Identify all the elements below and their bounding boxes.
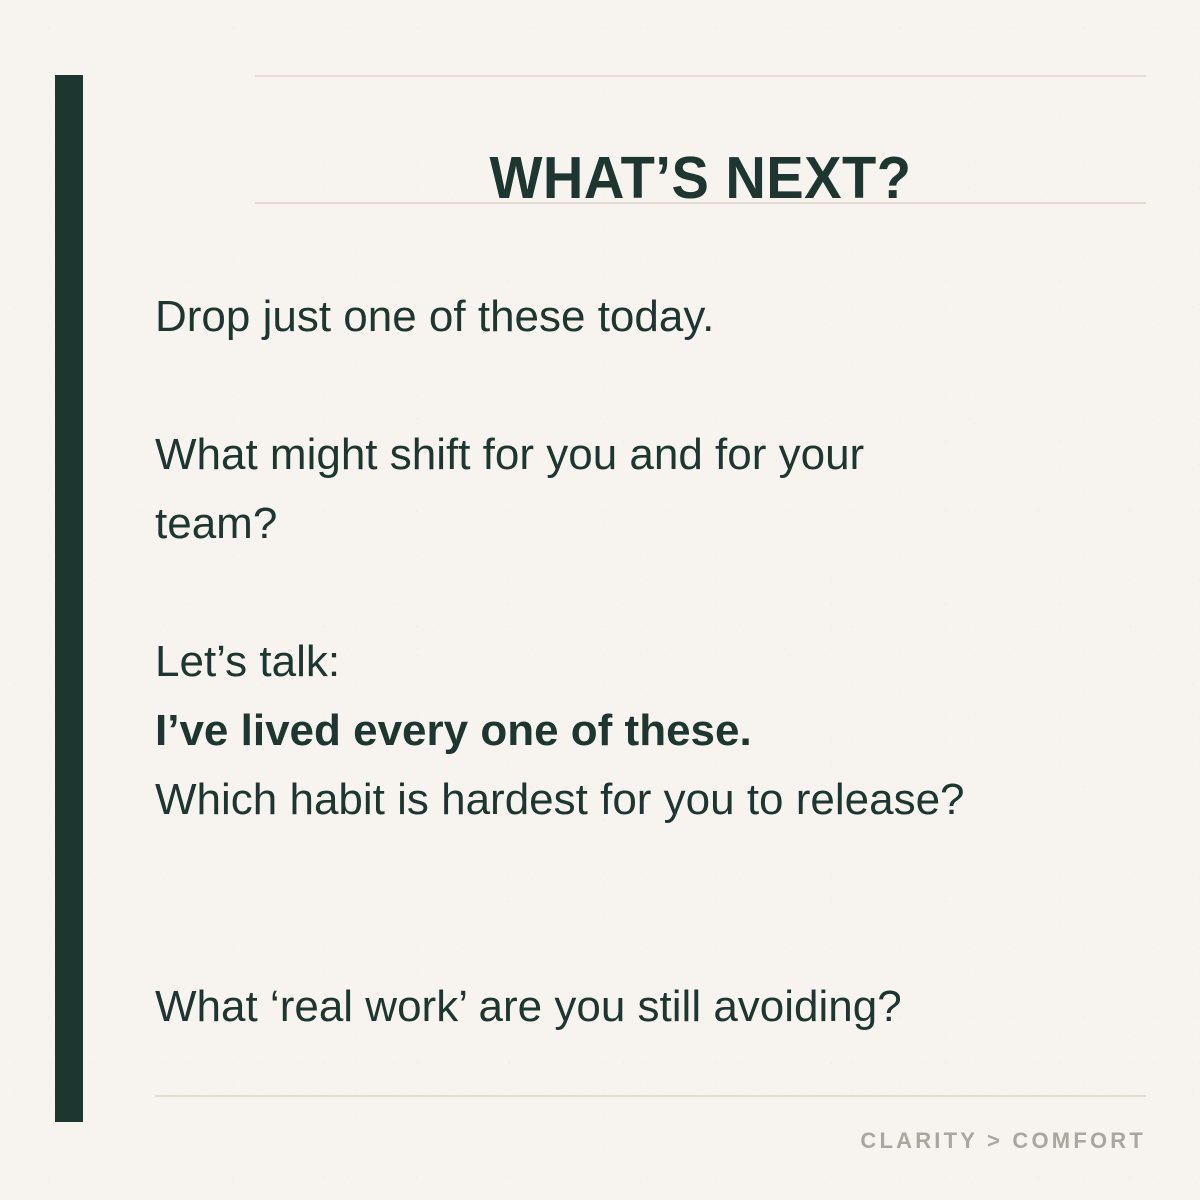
- footer-tagline: CLARITY > COMFORT: [155, 1128, 1146, 1154]
- left-accent-bar: [55, 75, 83, 1122]
- body-line-spacer: [155, 558, 1146, 627]
- body-line: What ‘real work’ are you still avoiding?: [155, 972, 1146, 1041]
- divider-top: [255, 75, 1146, 77]
- body-line-emphasis: I’ve lived every one of these.: [155, 696, 1146, 765]
- divider-bottom: [155, 1095, 1146, 1097]
- content-column: WHAT’S NEXT? Drop just one of these toda…: [155, 0, 1146, 1200]
- body-line-spacer: [155, 351, 1146, 420]
- body-line-spacer: [155, 903, 1146, 972]
- body-line: Which habit is hardest for you to releas…: [155, 765, 1146, 834]
- body-line-spacer: [155, 834, 1146, 903]
- body-line: Let’s talk:: [155, 627, 1146, 696]
- slide-canvas: WHAT’S NEXT? Drop just one of these toda…: [0, 0, 1200, 1200]
- body-text-block: Drop just one of these today.What might …: [155, 282, 1146, 1041]
- body-line: team?: [155, 489, 1146, 558]
- page-title: WHAT’S NEXT?: [277, 135, 1123, 221]
- body-line: What might shift for you and for your: [155, 420, 1146, 489]
- body-line: Drop just one of these today.: [155, 282, 1146, 351]
- divider-under-title: [255, 202, 1146, 204]
